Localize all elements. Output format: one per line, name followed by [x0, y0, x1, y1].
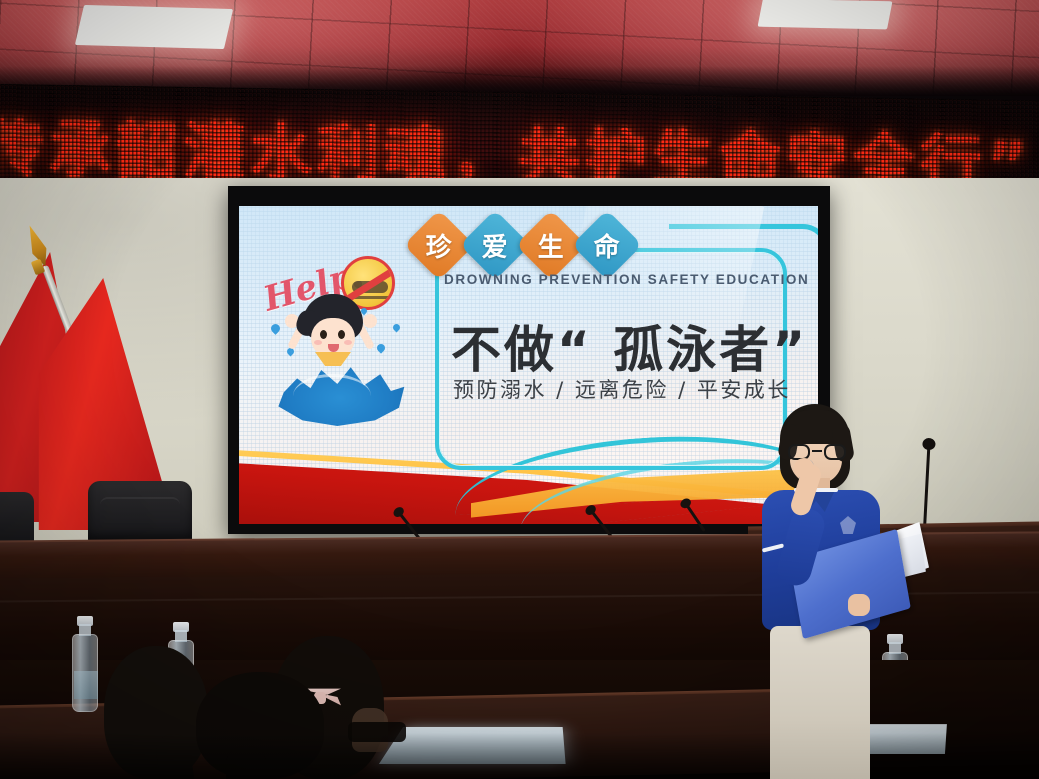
slide-tagline: 预防溺水 / 远离危险 / 平安成长 [453, 374, 791, 404]
ceiling [0, 0, 1039, 96]
mascot-cheek [344, 340, 352, 345]
mascot-mouth [328, 344, 339, 352]
audience-device [348, 722, 406, 742]
presenter-trousers [770, 626, 870, 779]
led-display-bezel: Help [228, 186, 830, 534]
slide-headline: 不做“ 孤泳者” [451, 310, 808, 382]
mascot-eye [338, 330, 345, 339]
bottle-label [74, 671, 98, 699]
stage-chair [0, 492, 34, 544]
badge-char: 珍 [426, 226, 452, 263]
ceiling-light-panel [758, 0, 893, 29]
presenter-hand-left [848, 594, 870, 616]
gooseneck-microphone-icon [685, 504, 705, 532]
title-badge: 命 [572, 210, 643, 281]
slide-frame-tail [669, 224, 818, 264]
presentation-slide: Help [239, 206, 818, 524]
slide-title-badges: 珍 爱 生 命 [414, 220, 632, 270]
glasses-bridge [812, 450, 822, 452]
stage-chair [88, 481, 192, 543]
presenter-fringe [784, 410, 848, 444]
mascot-cheek [314, 340, 322, 345]
ceiling-light-panel [75, 5, 233, 49]
conference-hall-photo: 传承韶灌水利魂，共护生命安全行” 主题 [0, 0, 1039, 779]
water-droplet [392, 323, 402, 333]
drowning-mascot-illustration: Help [257, 248, 417, 428]
slide-english-subtitle: DROWNING PREVENTION SAFETY EDUCATION [444, 272, 809, 287]
water-droplet [375, 342, 386, 353]
bottle-body [72, 634, 98, 712]
water-droplet [269, 322, 282, 335]
badge-char: 生 [538, 226, 564, 263]
gooseneck-microphone-icon [398, 513, 420, 540]
lit-desk-surface [379, 727, 566, 764]
audience-head [196, 672, 324, 779]
mascot-hand [363, 314, 377, 328]
eyeglasses-icon [788, 444, 846, 460]
flag-group [0, 196, 220, 526]
mascot-eye [320, 330, 327, 339]
mascot-collar [315, 352, 351, 366]
presenter [744, 404, 914, 779]
gooseneck-microphone-icon [590, 511, 612, 538]
badge-char: 爱 [482, 226, 508, 263]
lens-right [824, 444, 846, 460]
audience-head [104, 646, 208, 779]
water-splash-highlight [293, 374, 371, 396]
badge-char: 命 [594, 226, 620, 263]
presenter-hand-right [794, 458, 814, 478]
